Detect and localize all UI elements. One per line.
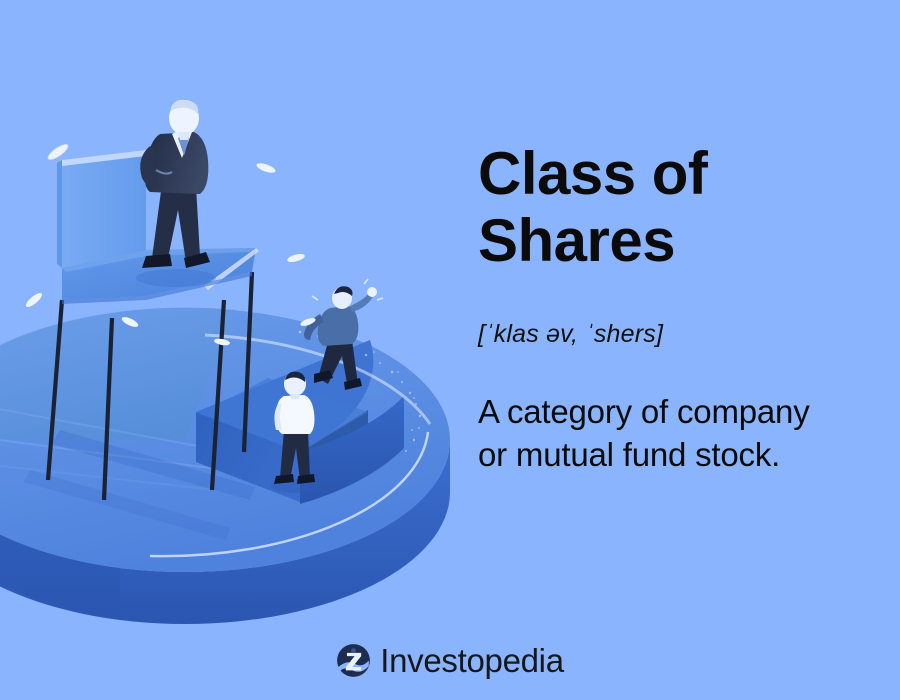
pronunciation: [ˈklas əv, ˈshers] [478, 274, 886, 349]
investopedia-circle-z-icon [336, 643, 371, 678]
definition-line-2: or mutual fund stock. [478, 436, 780, 473]
platform-back-panel [62, 150, 146, 268]
brand-footer: Investopedia [0, 643, 900, 678]
coin [255, 161, 276, 175]
businessman-shoe-left [142, 254, 172, 268]
blue-jacket-figure-jacket [318, 306, 359, 346]
coin [46, 142, 70, 163]
brand-name: Investopedia [380, 644, 564, 677]
definition-text: A category of company or mutual fund sto… [478, 349, 886, 475]
blue-jacket-figure-hand [367, 287, 377, 297]
pie-chart [0, 308, 450, 624]
investopedia-definition-card: Class of Shares [ˈklas əv, ˈshers] A cat… [0, 0, 900, 700]
illustration-panel [0, 0, 460, 640]
coin [24, 291, 44, 309]
isometric-pie-chart-illustration [0, 0, 460, 640]
white-shirt-figure-shirt [276, 395, 315, 434]
definition-text-column: Class of Shares [ˈklas əv, ˈshers] A cat… [478, 140, 886, 476]
coin [286, 252, 305, 263]
term-title-line-1: Class of [478, 140, 707, 207]
definition-line-1: A category of company [478, 393, 810, 430]
term-title: Class of Shares [478, 140, 886, 274]
term-title-line-2: Shares [478, 207, 675, 274]
